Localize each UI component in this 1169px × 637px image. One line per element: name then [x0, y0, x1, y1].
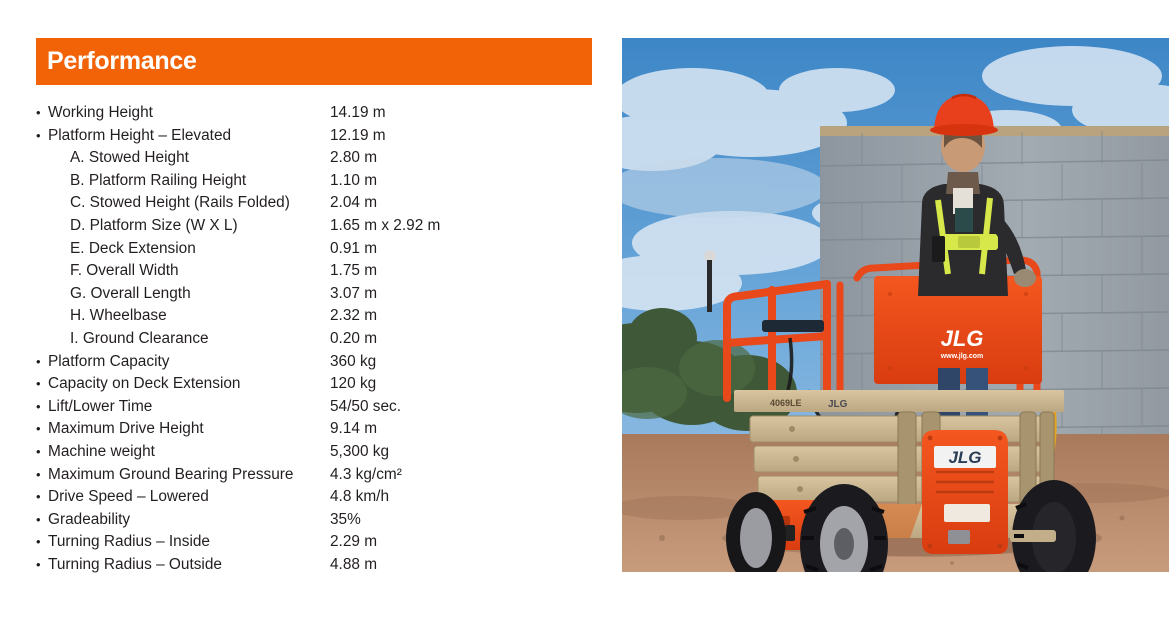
- spec-label-wrap: •C. Stowed Height (Rails Folded): [36, 192, 330, 215]
- spec-label-wrap: •Machine weight: [36, 441, 330, 464]
- spec-label-wrap: •Maximum Ground Bearing Pressure: [36, 464, 330, 487]
- spec-row: •Lift/Lower Time54/50 sec.: [36, 396, 596, 419]
- spec-row: •I. Ground Clearance0.20 m: [36, 328, 596, 351]
- bullet-icon: •: [36, 486, 48, 509]
- spec-list: •Working Height14.19 m• Platform Height …: [36, 102, 596, 576]
- bullet-icon: •: [36, 396, 48, 419]
- spec-row: •F. Overall Width1.75 m: [36, 260, 596, 283]
- spec-row: •Machine weight5,300 kg: [36, 441, 596, 464]
- spec-value: 14.19 m: [330, 102, 386, 125]
- spec-label-wrap: •F. Overall Width: [36, 260, 330, 283]
- spec-row: •C. Stowed Height (Rails Folded)2.04 m: [36, 192, 596, 215]
- spec-label-wrap: •G. Overall Length: [36, 283, 330, 306]
- bullet-icon: •: [36, 351, 48, 374]
- spec-label-wrap: •H. Wheelbase: [36, 305, 330, 328]
- spec-value: 2.80 m: [330, 147, 377, 170]
- spec-value: 54/50 sec.: [330, 396, 401, 419]
- jlg-logo-upper: JLG www.jlg.com: [940, 326, 984, 360]
- spec-label: Gradeability: [48, 509, 130, 532]
- bullet-icon: •: [36, 418, 48, 441]
- spec-value: 12.19 m: [330, 125, 386, 148]
- spec-label-wrap: •Turning Radius – Outside: [36, 554, 330, 577]
- spec-value: 4.3 kg/cm²: [330, 464, 402, 487]
- spec-row: •Drive Speed – Lowered4.8 km/h: [36, 486, 596, 509]
- spec-label: Platform Height – Elevated: [48, 125, 231, 148]
- spec-label: Maximum Ground Bearing Pressure: [48, 464, 294, 487]
- spec-label-wrap: •I. Ground Clearance: [36, 328, 330, 351]
- spec-label: Working Height: [48, 102, 153, 125]
- spec-value: 120 kg: [330, 373, 376, 396]
- bullet-icon: •: [36, 125, 48, 148]
- scissor-lift-photograph: 4069LE JLG: [622, 38, 1169, 572]
- spec-label: Capacity on Deck Extension: [48, 373, 240, 396]
- spec-label-wrap: •Drive Speed – Lowered: [36, 486, 330, 509]
- spec-value: 2.32 m: [330, 305, 377, 328]
- spec-value: 4.8 km/h: [330, 486, 389, 509]
- bullet-icon: •: [36, 509, 48, 532]
- bullet-icon: •: [36, 554, 48, 577]
- spec-value: 0.91 m: [330, 238, 377, 261]
- spec-label: I. Ground Clearance: [48, 328, 209, 351]
- spec-label: Drive Speed – Lowered: [48, 486, 209, 509]
- spec-value: 3.07 m: [330, 283, 377, 306]
- svg-text:JLG: JLG: [948, 448, 981, 467]
- spec-value: 2.04 m: [330, 192, 377, 215]
- spec-label-wrap: •Gradeability: [36, 509, 330, 532]
- spec-value: 5,300 kg: [330, 441, 389, 464]
- spec-value: 1.10 m: [330, 170, 377, 193]
- spec-label: F. Overall Width: [48, 260, 179, 283]
- spec-label-wrap: •E. Deck Extension: [36, 238, 330, 261]
- spec-row: •E. Deck Extension0.91 m: [36, 238, 596, 261]
- spec-value: 360 kg: [330, 351, 376, 374]
- spec-row: •Platform Capacity360 kg: [36, 351, 596, 374]
- spec-label-wrap: •D. Platform Size (W X L): [36, 215, 330, 238]
- spec-label: E. Deck Extension: [48, 238, 196, 261]
- spec-label: Maximum Drive Height: [48, 418, 204, 441]
- spec-row: •B. Platform Railing Height1.10 m: [36, 170, 596, 193]
- jlg-logo-lower: JLG: [934, 446, 996, 468]
- svg-text:JLG: JLG: [828, 399, 848, 410]
- spec-label: D. Platform Size (W X L): [48, 215, 238, 238]
- spec-label: Platform Capacity: [48, 351, 169, 374]
- spec-value: 1.75 m: [330, 260, 377, 283]
- spec-row: •D. Platform Size (W X L)1.65 m x 2.92 m: [36, 215, 596, 238]
- spec-label-wrap: •A. Stowed Height: [36, 147, 330, 170]
- bullet-icon: •: [36, 464, 48, 487]
- spec-label-wrap: •Working Height: [36, 102, 330, 125]
- spec-label: Lift/Lower Time: [48, 396, 152, 419]
- spec-label: H. Wheelbase: [48, 305, 167, 328]
- spec-label: C. Stowed Height (Rails Folded): [48, 192, 290, 215]
- spec-label: Machine weight: [48, 441, 155, 464]
- bullet-icon: •: [36, 441, 48, 464]
- spec-value: 0.20 m: [330, 328, 377, 351]
- spec-label-wrap: •Turning Radius – Inside: [36, 531, 330, 554]
- spec-value: 4.88 m: [330, 554, 377, 577]
- spec-label-wrap: •B. Platform Railing Height: [36, 170, 330, 193]
- spec-label: Turning Radius – Inside: [48, 531, 210, 554]
- spec-label-wrap: • Platform Height – Elevated: [36, 125, 330, 148]
- spec-label: Turning Radius – Outside: [48, 554, 222, 577]
- product-photo: 4069LE JLG: [622, 38, 1169, 572]
- svg-text:JLG: JLG: [941, 326, 984, 351]
- page-title: Performance: [47, 49, 197, 74]
- spec-value: 2.29 m: [330, 531, 377, 554]
- spec-label-wrap: •Capacity on Deck Extension: [36, 373, 330, 396]
- section-header-bar: Performance: [36, 38, 592, 85]
- spec-row: •Maximum Drive Height9.14 m: [36, 418, 596, 441]
- spec-row: •A. Stowed Height2.80 m: [36, 147, 596, 170]
- spec-value: 1.65 m x 2.92 m: [330, 215, 440, 238]
- spec-label-wrap: •Lift/Lower Time: [36, 396, 330, 419]
- spec-label: B. Platform Railing Height: [48, 170, 246, 193]
- performance-spec-panel: Performance •Working Height14.19 m• Plat…: [36, 38, 596, 598]
- spec-label-wrap: •Maximum Drive Height: [36, 418, 330, 441]
- spec-row: •Maximum Ground Bearing Pressure4.3 kg/c…: [36, 464, 596, 487]
- spec-label-wrap: •Platform Capacity: [36, 351, 330, 374]
- spec-value: 9.14 m: [330, 418, 377, 441]
- spec-row: •Turning Radius – Outside4.88 m: [36, 554, 596, 577]
- spec-row: • Platform Height – Elevated12.19 m: [36, 125, 596, 148]
- bullet-icon: •: [36, 531, 48, 554]
- spec-label: A. Stowed Height: [48, 147, 189, 170]
- spec-label: G. Overall Length: [48, 283, 191, 306]
- spec-row: •Working Height14.19 m: [36, 102, 596, 125]
- spec-row: •Capacity on Deck Extension120 kg: [36, 373, 596, 396]
- bullet-icon: •: [36, 373, 48, 396]
- spec-row: •H. Wheelbase2.32 m: [36, 305, 596, 328]
- spec-row: •G. Overall Length3.07 m: [36, 283, 596, 306]
- bullet-icon: •: [36, 102, 48, 125]
- spec-row: •Gradeability35%: [36, 509, 596, 532]
- model-decal: 4069LE: [770, 398, 802, 408]
- svg-text:www.jlg.com: www.jlg.com: [940, 353, 984, 360]
- spec-value: 35%: [330, 509, 361, 532]
- spec-row: •Turning Radius – Inside2.29 m: [36, 531, 596, 554]
